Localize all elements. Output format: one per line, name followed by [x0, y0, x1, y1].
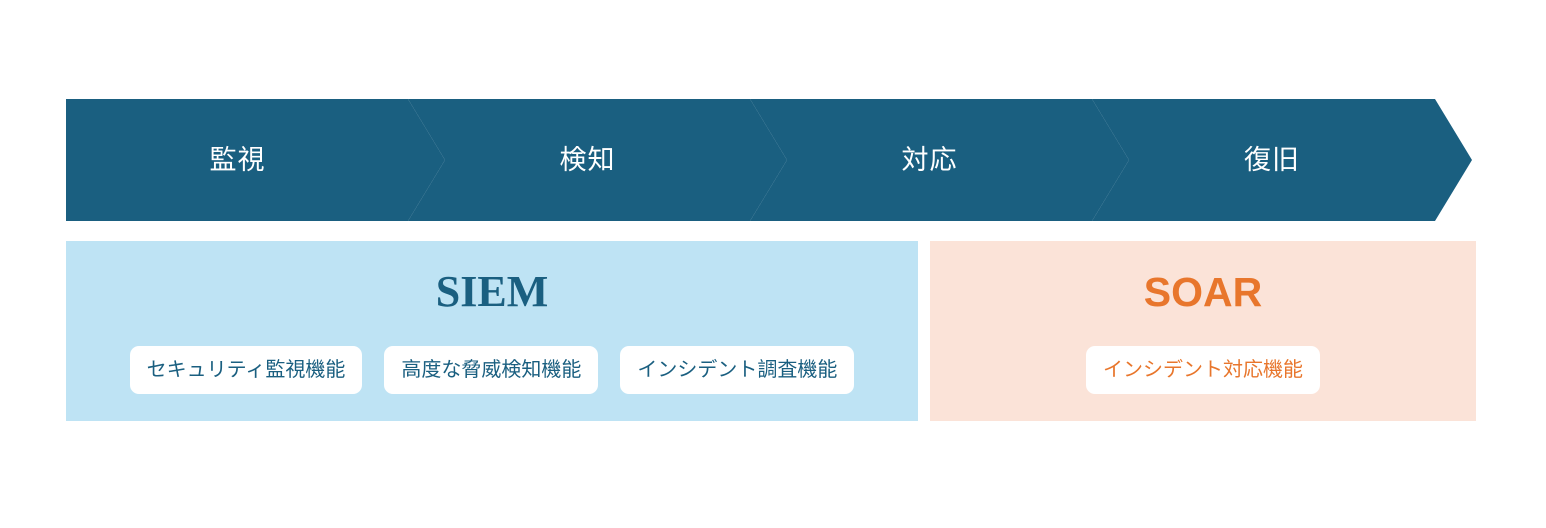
- diagram-canvas: 監視 検知 対応 復旧 SIEM セキュリティ監視機能 高度な脅威検知機能 イン…: [0, 0, 1546, 528]
- siem-feature-pill[interactable]: 高度な脅威検知機能: [384, 346, 598, 394]
- process-step-1[interactable]: 監視: [66, 99, 445, 221]
- process-step-4[interactable]: 復旧: [1092, 99, 1472, 221]
- process-step-label: 復旧: [1244, 147, 1300, 174]
- process-step-3[interactable]: 対応: [750, 99, 1129, 221]
- siem-feature-label: インシデント調査機能: [637, 360, 837, 380]
- siem-feature-pill[interactable]: インシデント調査機能: [620, 346, 854, 394]
- siem-feature-label: 高度な脅威検知機能: [401, 360, 581, 380]
- siem-band: SIEM セキュリティ監視機能 高度な脅威検知機能 インシデント調査機能: [66, 241, 918, 421]
- siem-feature-list: セキュリティ監視機能 高度な脅威検知機能 インシデント調査機能: [66, 346, 918, 394]
- process-step-label: 対応: [902, 147, 958, 174]
- process-step-label: 検知: [560, 147, 616, 174]
- siem-feature-pill[interactable]: セキュリティ監視機能: [130, 346, 363, 394]
- siem-title: SIEM: [66, 270, 918, 314]
- process-step-2[interactable]: 検知: [408, 99, 787, 221]
- process-flow: 監視 検知 対応 復旧: [66, 99, 1472, 221]
- soar-band: SOAR インシデント対応機能: [930, 241, 1476, 421]
- soar-feature-label: インシデント対応機能: [1103, 360, 1303, 380]
- siem-feature-label: セキュリティ監視機能: [147, 360, 346, 380]
- soar-feature-pill[interactable]: インシデント対応機能: [1086, 346, 1320, 394]
- soar-feature-list: インシデント対応機能: [930, 346, 1476, 394]
- process-step-label: 監視: [210, 147, 266, 174]
- soar-title: SOAR: [930, 272, 1476, 313]
